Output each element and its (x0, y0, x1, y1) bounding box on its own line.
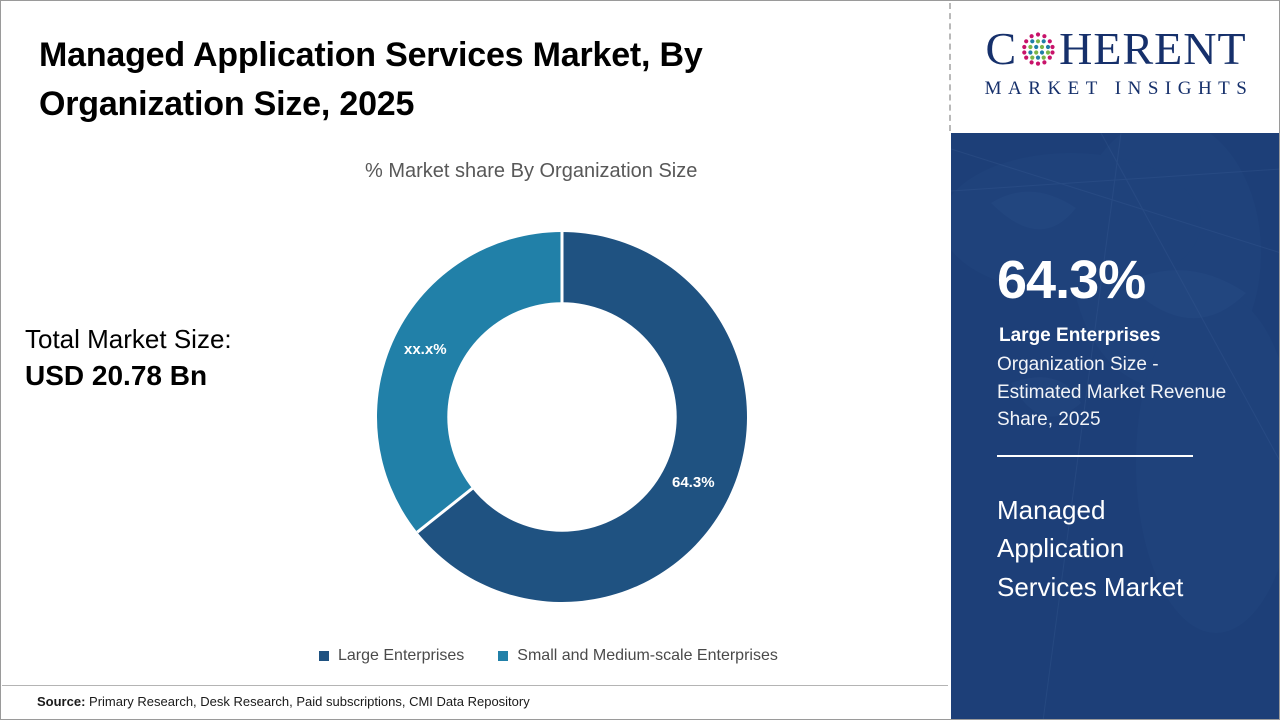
panel-market-name: Managed Application Services Market (997, 491, 1227, 606)
logo-letter-c: C (985, 26, 1017, 72)
source-text: Primary Research, Desk Research, Paid su… (85, 694, 529, 709)
stat-value: 64.3% (997, 253, 1145, 307)
brand-logo-area: C (951, 1, 1280, 133)
page-title: Managed Application Services Market, By … (39, 31, 829, 130)
stat-segment-name: Large Enterprises (999, 325, 1161, 347)
total-market-size-value: USD 20.78 Bn (25, 357, 325, 395)
panel-divider (997, 455, 1193, 457)
donut-chart-svg (376, 231, 748, 603)
legend-item-large-enterprises[interactable]: Large Enterprises (319, 647, 464, 665)
left-content-region: Managed Application Services Market, By … (1, 1, 949, 720)
donut-label-large-enterprises: 64.3% (672, 474, 715, 491)
donut-chart: xx.x% 64.3% (376, 231, 748, 603)
chart-subtitle: % Market share By Organization Size (365, 160, 697, 183)
coherent-market-insights-logo: C (979, 26, 1254, 100)
infographic-page: Managed Application Services Market, By … (0, 0, 1280, 720)
legend-swatch-icon (319, 651, 329, 661)
legend-label: Large Enterprises (338, 647, 464, 665)
highlight-panel: 64.3% Large Enterprises Organization Siz… (951, 133, 1280, 720)
logo-word-herent: HERENT (1059, 26, 1246, 72)
source-prefix: Source: (37, 694, 85, 709)
legend-label: Small and Medium-scale Enterprises (517, 647, 778, 665)
source-divider (2, 685, 948, 686)
stat-description: Organization Size - Estimated Market Rev… (997, 351, 1227, 434)
total-market-size-label: Total Market Size: (25, 323, 325, 357)
logo-wordmark: C (979, 26, 1254, 72)
logo-tagline: MARKET INSIGHTS (979, 78, 1254, 100)
chart-legend: Large Enterprises Small and Medium-scale… (319, 647, 778, 665)
total-market-size-block: Total Market Size: USD 20.78 Bn (25, 323, 325, 395)
legend-item-sme[interactable]: Small and Medium-scale Enterprises (498, 647, 778, 665)
legend-swatch-icon (498, 651, 508, 661)
globe-dots-icon (1018, 29, 1058, 69)
source-note: Source: Primary Research, Desk Research,… (37, 694, 530, 709)
donut-label-sme: xx.x% (404, 341, 447, 358)
donut-hole (447, 302, 676, 531)
